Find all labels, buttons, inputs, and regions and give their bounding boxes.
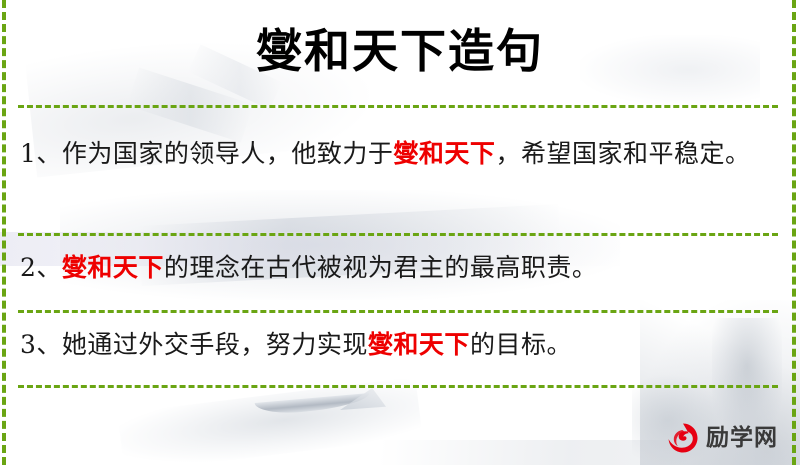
site-logo[interactable]: 励学网 [666, 421, 778, 455]
example-sentence-2: 2、燮和天下的理念在古代被视为君主的最高职责。 [20, 248, 772, 288]
poster-root: 燮和天下造句 1、作为国家的领导人，他致力于燮和天下，希望国家和平稳定。 2、燮… [0, 0, 800, 465]
example-sentence-1: 1、作为国家的领导人，他致力于燮和天下，希望国家和平稳定。 [20, 134, 772, 174]
highlighted-keyword: 燮和天下 [62, 253, 164, 282]
site-logo-text: 励学网 [706, 425, 778, 451]
example-sentence-3: 3、她通过外交手段，努力实现燮和天下的目标。 [20, 325, 772, 365]
ink-wash-boat-halo [117, 377, 422, 465]
separator-under-title [18, 105, 778, 108]
sentence-text-run: 1、作为国家的领导人，他致力于 [20, 139, 393, 168]
swirl-flame-icon [666, 421, 700, 455]
ink-boat-sail [340, 388, 386, 410]
sentence-text-run: 2、 [20, 253, 62, 282]
highlighted-keyword: 燮和天下 [393, 139, 495, 168]
sentence-text-run: 3、她通过外交手段，努力实现 [20, 330, 368, 359]
sentence-text-run: 的目标。 [470, 330, 572, 359]
page-title: 燮和天下造句 [0, 22, 800, 80]
separator-after-sentence-2 [18, 310, 778, 313]
separator-after-sentence-3 [18, 385, 778, 388]
separator-after-sentence-1 [18, 233, 778, 236]
ink-boat-hull [255, 393, 371, 416]
sentence-text-run: ，希望国家和平稳定。 [495, 139, 750, 168]
highlighted-keyword: 燮和天下 [368, 330, 470, 359]
sentence-text-run: 的理念在古代被视为君主的最高职责。 [164, 253, 598, 282]
